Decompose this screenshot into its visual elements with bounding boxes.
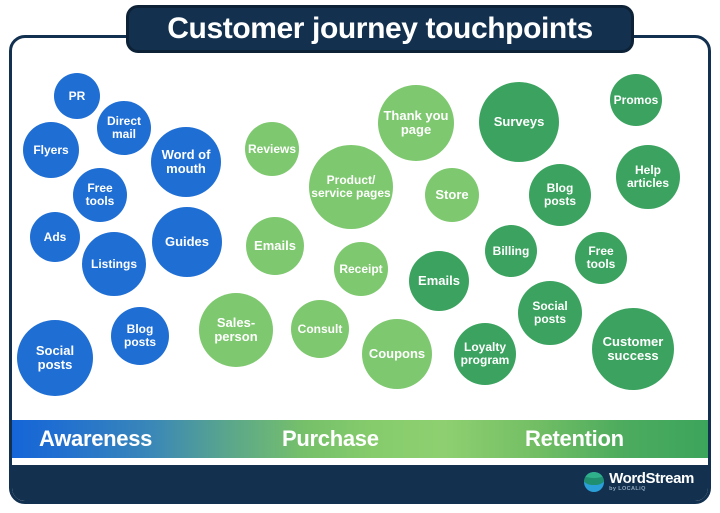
touchpoint-bubble-label: Word of mouth: [153, 148, 219, 176]
touchpoint-bubble: Emails: [246, 217, 304, 275]
journey-stage-bar: Awareness Purchase Retention: [12, 420, 708, 458]
footer-bar: WordStream by LOCALiQ: [12, 465, 708, 501]
touchpoint-bubble: Social posts: [518, 281, 582, 345]
touchpoint-bubble: Surveys: [479, 82, 559, 162]
touchpoint-bubble: Ads: [30, 212, 80, 262]
touchpoint-bubble-label: Receipt: [339, 263, 382, 276]
touchpoint-bubble-label: Coupons: [369, 347, 425, 361]
touchpoint-bubble: Free tools: [575, 232, 627, 284]
touchpoint-bubble-label: Customer success: [594, 335, 672, 363]
touchpoint-bubble: Sales- person: [199, 293, 273, 367]
touchpoint-bubble-label: Social posts: [520, 300, 580, 326]
touchpoint-bubble-label: Free tools: [577, 245, 625, 271]
touchpoint-bubble: Promos: [610, 74, 662, 126]
stage-label-retention: Retention: [525, 426, 624, 452]
wordstream-logo-text: WordStream by LOCALiQ: [609, 471, 694, 493]
touchpoint-bubble: Word of mouth: [151, 127, 221, 197]
touchpoint-bubble-label: Product/ service pages: [311, 174, 391, 200]
touchpoint-bubble: Customer success: [592, 308, 674, 390]
touchpoint-bubble-label: Direct mail: [99, 115, 149, 141]
touchpoint-bubble-label: Ads: [44, 231, 67, 244]
touchpoint-bubble-label: Surveys: [494, 115, 545, 129]
touchpoint-bubble-label: Loyalty program: [456, 341, 514, 367]
touchpoint-bubble-label: Guides: [165, 235, 209, 249]
touchpoint-bubble: Thank you page: [378, 85, 454, 161]
touchpoint-bubble: Emails: [409, 251, 469, 311]
touchpoint-bubble-label: Listings: [91, 258, 137, 271]
touchpoint-bubble: Loyalty program: [454, 323, 516, 385]
touchpoint-bubble-label: Blog posts: [113, 323, 167, 349]
touchpoint-bubble: Guides: [152, 207, 222, 277]
stage-label-awareness: Awareness: [39, 426, 152, 452]
infographic-canvas: Customer journey touchpoints PRFlyersDir…: [0, 0, 720, 513]
touchpoint-bubble-label: Help articles: [618, 164, 678, 190]
wordstream-globe-icon: [584, 472, 604, 492]
touchpoint-bubble: Help articles: [616, 145, 680, 209]
touchpoint-bubble-label: Emails: [254, 239, 296, 253]
touchpoint-bubble-label: Flyers: [33, 144, 68, 157]
touchpoint-bubble: Free tools: [73, 168, 127, 222]
touchpoint-bubble: Social posts: [17, 320, 93, 396]
touchpoint-bubble: Blog posts: [111, 307, 169, 365]
touchpoint-bubble-label: Sales- person: [201, 316, 271, 344]
logo-brand-tagline: by LOCALiQ: [609, 487, 694, 493]
touchpoint-bubble-label: Reviews: [248, 143, 296, 156]
touchpoint-bubble-label: Billing: [493, 245, 530, 258]
touchpoint-bubble: Product/ service pages: [309, 145, 393, 229]
stage-label-purchase: Purchase: [282, 426, 379, 452]
touchpoint-bubble-label: Consult: [298, 323, 343, 336]
touchpoint-bubble: Blog posts: [529, 164, 591, 226]
touchpoint-bubble: Coupons: [362, 319, 432, 389]
touchpoint-bubble: Reviews: [245, 122, 299, 176]
page-title: Customer journey touchpoints: [167, 14, 593, 44]
title-banner: Customer journey touchpoints: [126, 5, 634, 53]
touchpoint-bubble: Flyers: [23, 122, 79, 178]
touchpoint-bubble: Consult: [291, 300, 349, 358]
touchpoint-bubble: Receipt: [334, 242, 388, 296]
touchpoint-bubble-label: Thank you page: [380, 109, 452, 137]
touchpoint-bubble-label: Social posts: [19, 344, 91, 372]
touchpoint-bubble-field: PRFlyersDirect mailWord of mouthFree too…: [12, 55, 708, 410]
touchpoint-bubble: Listings: [82, 232, 146, 296]
touchpoint-bubble-label: Free tools: [75, 182, 125, 208]
touchpoint-bubble: Direct mail: [97, 101, 151, 155]
touchpoint-bubble-label: Blog posts: [531, 182, 589, 208]
touchpoint-bubble: Store: [425, 168, 479, 222]
wordstream-logo: WordStream by LOCALiQ: [584, 471, 694, 493]
touchpoint-bubble-label: PR: [69, 90, 86, 103]
logo-brand-name: WordStream: [609, 471, 694, 486]
touchpoint-bubble: Billing: [485, 225, 537, 277]
touchpoint-bubble-label: Store: [435, 188, 468, 202]
touchpoint-bubble-label: Promos: [614, 94, 659, 107]
touchpoint-bubble-label: Emails: [418, 274, 460, 288]
touchpoint-bubble: PR: [54, 73, 100, 119]
